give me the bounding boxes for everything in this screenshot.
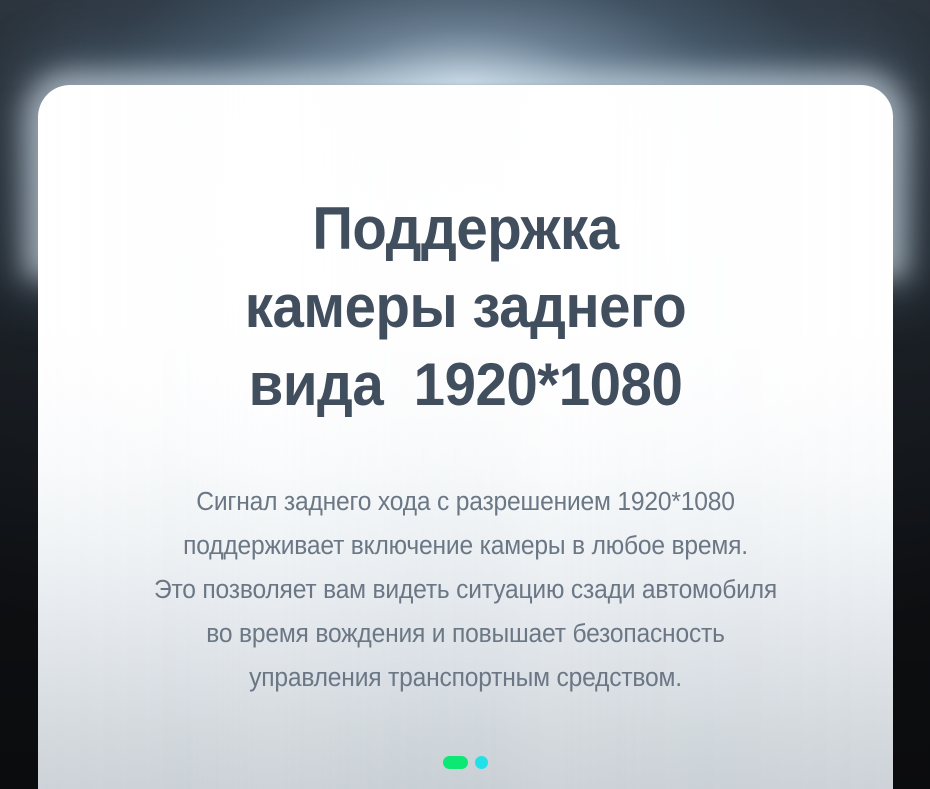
card-content: Поддержка камеры заднего вида 1920*1080 … — [38, 85, 893, 789]
feature-description-line-3: Это позволяет вам видеть ситуацию сзади … — [96, 568, 834, 612]
page-title-line-3: вида 1920*1080 — [101, 346, 830, 424]
screenshot-root: Поддержка камеры заднего вида 1920*1080 … — [0, 0, 930, 789]
feature-description: Сигнал заднего хода с разрешением 1920*1… — [53, 480, 878, 700]
carousel-pagination[interactable] — [443, 756, 488, 769]
feature-description-line-2: поддерживает включение камеры в любое вр… — [96, 524, 834, 568]
page-title-line-1: Поддержка — [101, 190, 830, 268]
pagination-dot-inactive[interactable] — [475, 756, 488, 769]
page-title: Поддержка камеры заднего вида 1920*1080 — [64, 190, 868, 424]
feature-card: Поддержка камеры заднего вида 1920*1080 … — [38, 85, 893, 789]
page-title-line-2: камеры заднего — [101, 268, 830, 346]
feature-description-line-4: во время вождения и повышает безопасност… — [96, 612, 834, 656]
feature-description-line-1: Сигнал заднего хода с разрешением 1920*1… — [96, 480, 834, 524]
feature-description-line-5: управления транспортным средством. — [96, 656, 834, 700]
pagination-dot-active[interactable] — [443, 756, 468, 769]
